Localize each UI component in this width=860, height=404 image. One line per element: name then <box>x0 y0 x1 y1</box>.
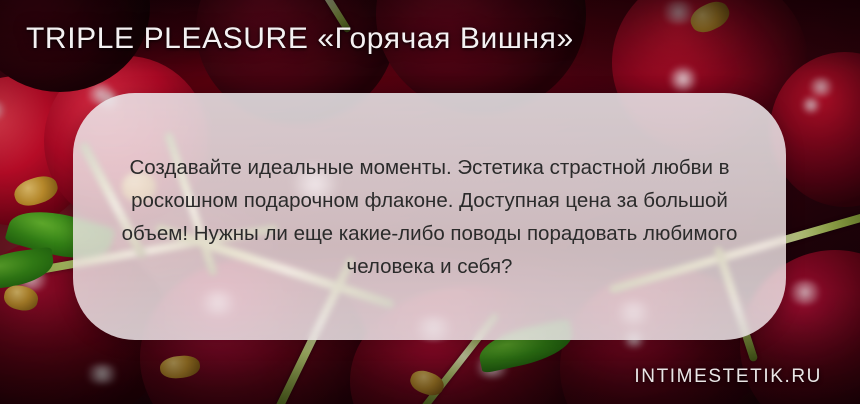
promo-banner: TRIPLE PLEASURE «Горячая Вишня» Создавай… <box>0 0 860 404</box>
banner-body-text: Создавайте идеальные моменты. Эстетика с… <box>85 151 775 283</box>
content-panel: Создавайте идеальные моменты. Эстетика с… <box>73 93 786 340</box>
banner-title: TRIPLE PLEASURE «Горячая Вишня» <box>26 22 574 56</box>
site-watermark: INTIMESTETIK.RU <box>634 366 822 388</box>
